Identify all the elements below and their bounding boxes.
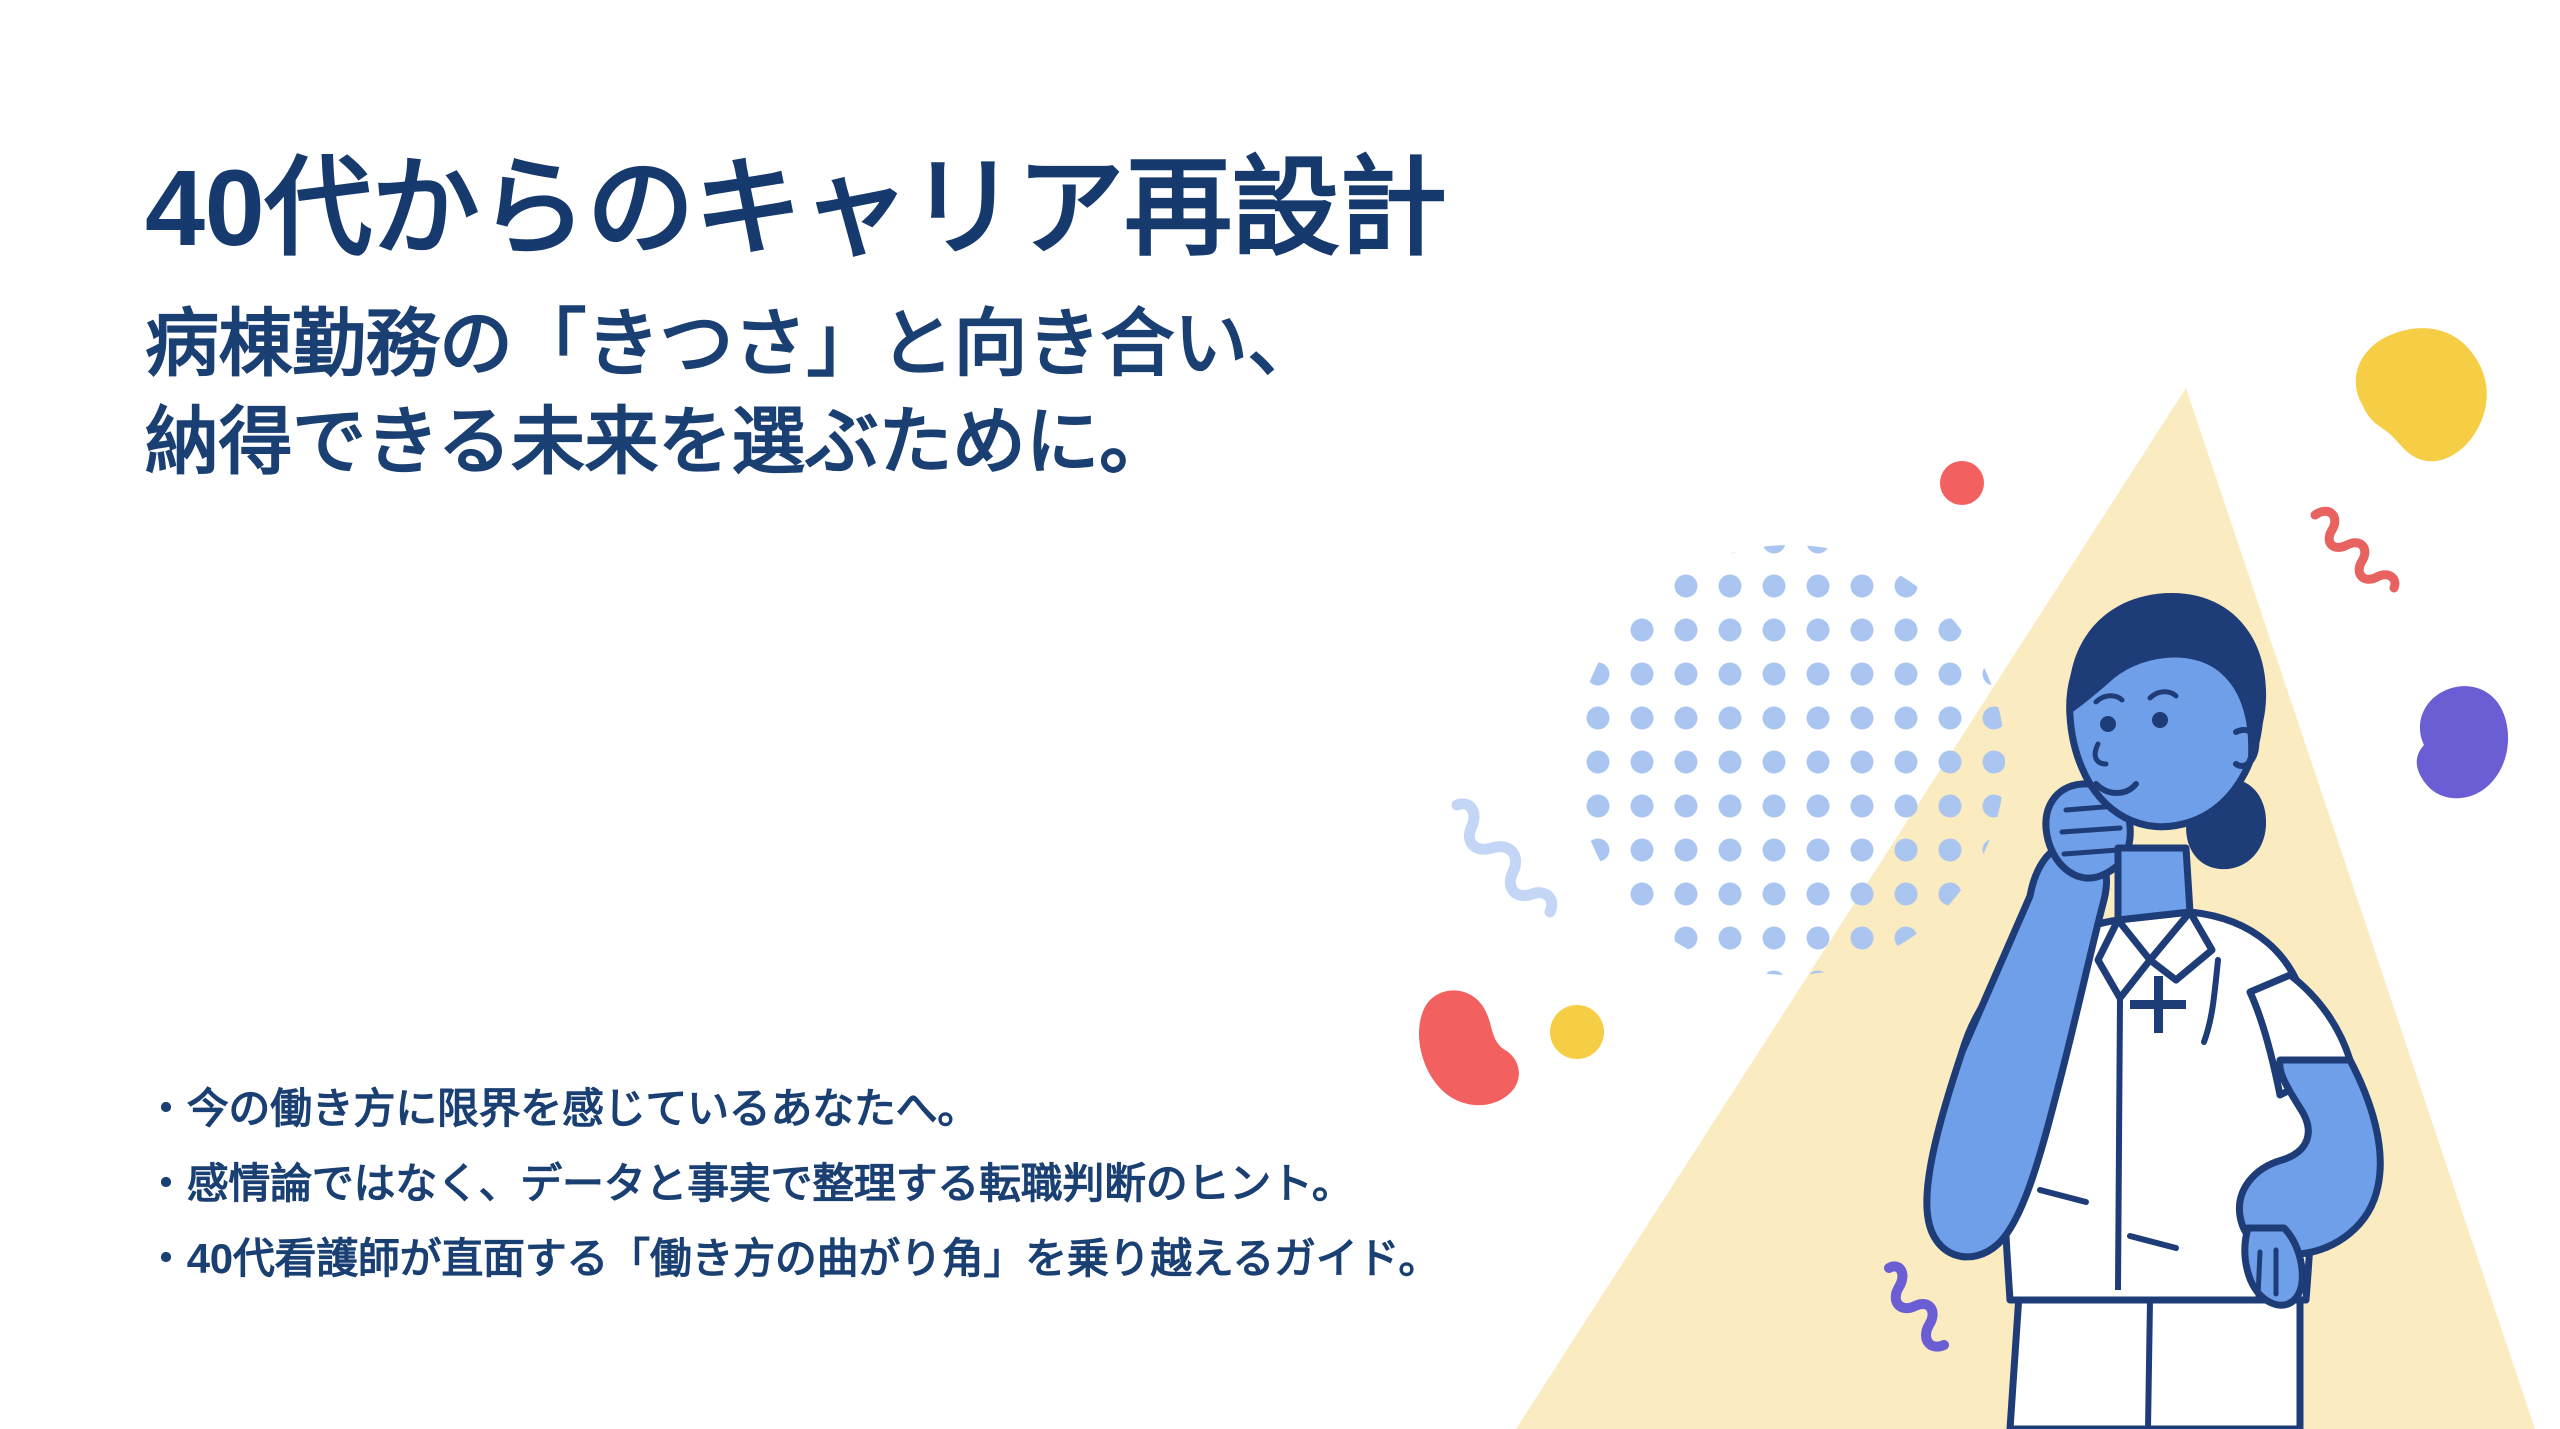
nurse-eye-left: [2100, 716, 2116, 732]
nurse-finger-2: [2062, 828, 2120, 832]
nurse-hand-chin: [2046, 784, 2130, 878]
red-dot-shape: [1940, 461, 1984, 505]
subtitle-line-2: 納得できる未来を選ぶために。: [145, 393, 1321, 491]
nurse-trouser-split: [2148, 1300, 2150, 1429]
list-item: ・40代看護師が直面する「働き方の曲がり角」を乗り越えるガイド。: [145, 1222, 1440, 1297]
nurse-hair-bun: [2186, 778, 2266, 869]
nurse-placket: [2118, 998, 2120, 1290]
purple-squiggle-shape: [1889, 1266, 1944, 1346]
nurse-brow-right: [2150, 692, 2176, 698]
nurse-nose: [2095, 744, 2106, 764]
nurse-left-arm: [1927, 844, 2107, 1257]
nurse-eye-right: [2152, 712, 2168, 728]
nurse-neck: [2118, 848, 2190, 920]
purple-blob-shape: [2417, 686, 2508, 798]
nurse-tunic: [2002, 912, 2314, 1300]
dot-grid-circle-shape: [1560, 530, 2030, 1000]
nurse-hand-hip: [2245, 1228, 2302, 1305]
subtitle: 病棟勤務の「きつさ」と向き合い、 納得できる未来を選ぶために。: [145, 295, 1321, 492]
yellow-triangle-shape: [1516, 388, 2535, 1429]
nurse-pocket-line: [2040, 1190, 2086, 1202]
slide-canvas: 40代からのキャリア再設計 病棟勤務の「きつさ」と向き合い、 納得できる未来を選…: [0, 0, 2560, 1429]
medical-cross-icon: [2130, 976, 2186, 1033]
nurse-right-sleeve: [2250, 975, 2350, 1095]
coral-squiggle-shape: [2315, 511, 2395, 588]
nurse-right-arm: [2239, 1060, 2380, 1255]
page-title: 40代からのキャリア再設計: [145, 150, 1447, 267]
nurse-hair-front: [2069, 593, 2266, 756]
nurse-ear: [2236, 730, 2256, 766]
nurse-left-sleeve: [1962, 965, 2062, 1090]
nurse-finger-1: [2066, 806, 2116, 810]
nurse-trousers: [2010, 1280, 2300, 1429]
nurse-collar-right: [2150, 912, 2212, 980]
subtitle-line-1: 病棟勤務の「きつさ」と向き合い、: [145, 295, 1321, 393]
nurse-finger-3: [2064, 850, 2118, 854]
nurse-head: [2070, 603, 2261, 827]
nurse-collar: [2098, 920, 2150, 998]
bullet-list: ・今の働き方に限界を感じているあなたへ。 ・感情論ではなく、データと事実で整理す…: [145, 1072, 1440, 1296]
thinking-nurse-illustration: [1927, 593, 2380, 1429]
text-content-block: 40代からのキャリア再設計 病棟勤務の「きつさ」と向き合い、 納得できる未来を選…: [145, 0, 1545, 1429]
list-item: ・今の働き方に限界を感じているあなたへ。: [145, 1072, 1440, 1147]
nurse-shoulder-seam: [2204, 960, 2218, 1042]
nurse-smile: [2096, 784, 2136, 793]
nurse-hem-line: [2130, 1236, 2176, 1248]
list-item: ・感情論ではなく、データと事実で整理する転職判断のヒント。: [145, 1147, 1440, 1222]
yellow-dot-shape: [1550, 1005, 1604, 1059]
nurse-hip-finger-1: [2258, 1252, 2260, 1296]
nurse-brow-left: [2096, 696, 2122, 702]
yellow-blob-shape: [2356, 328, 2487, 461]
